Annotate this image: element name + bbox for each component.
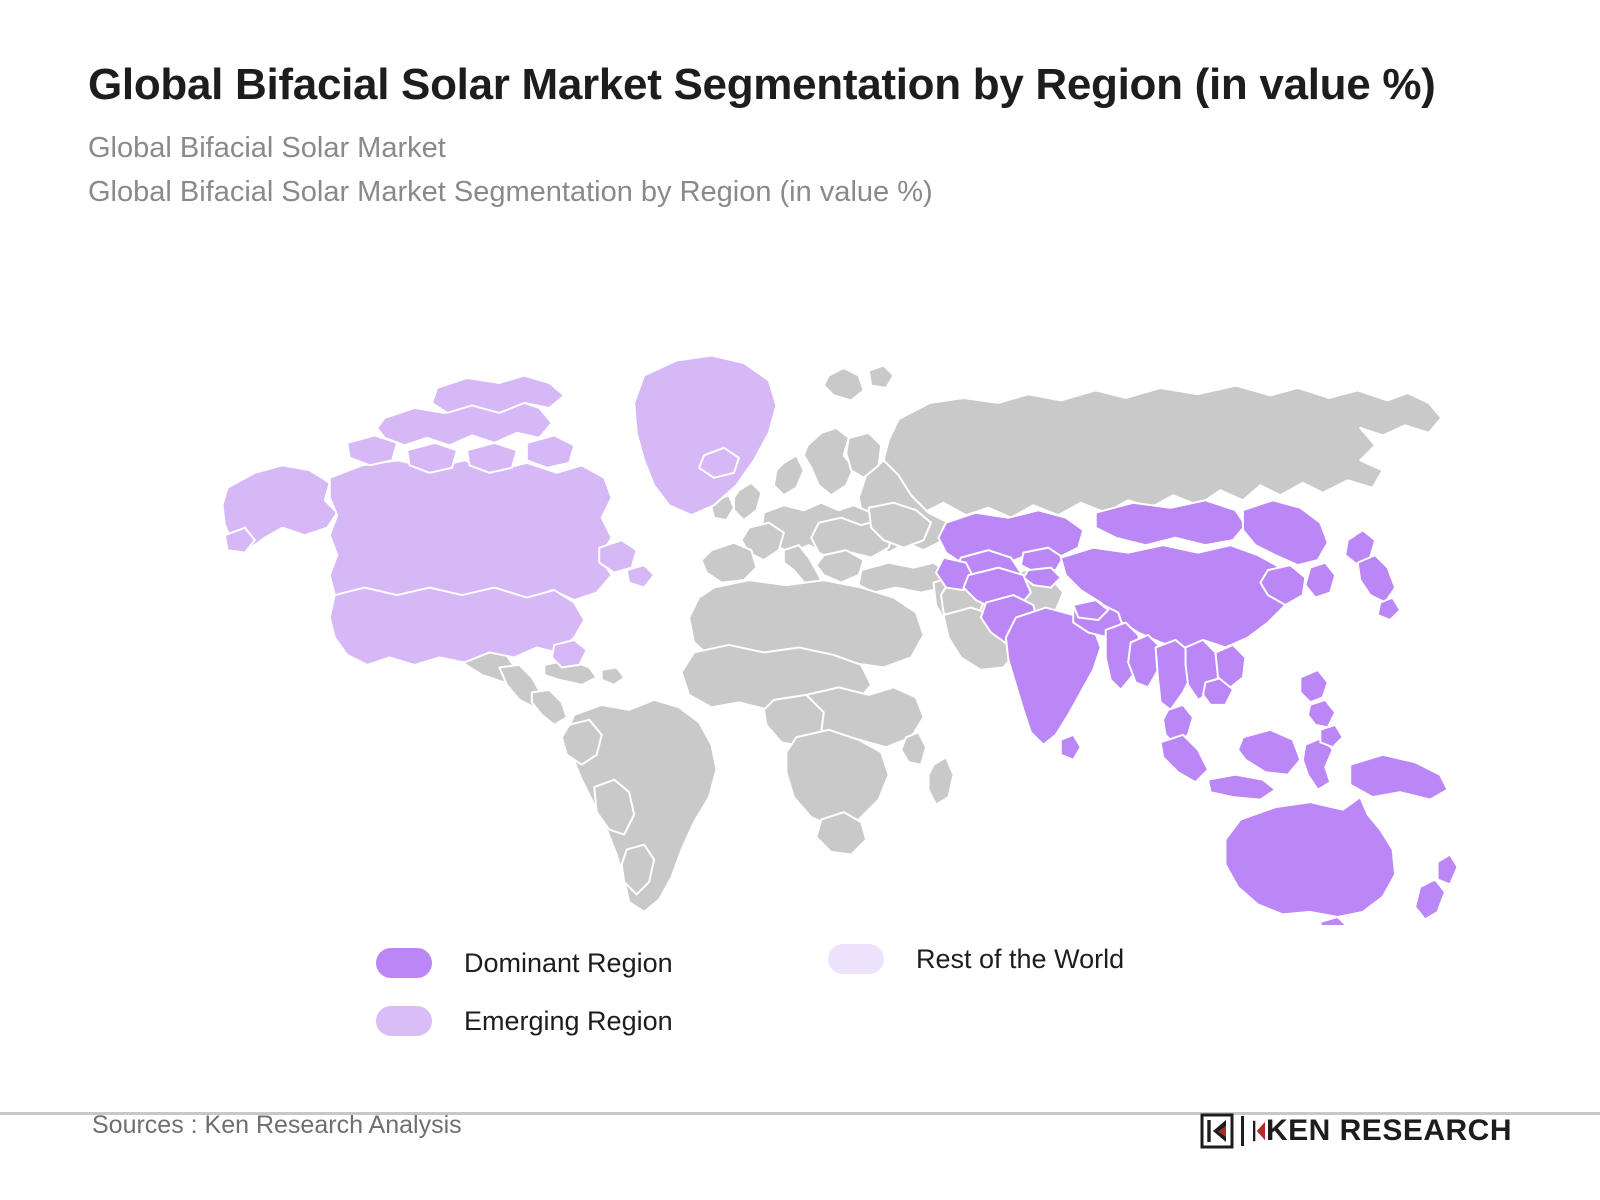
legend-label-rest-of-world: Rest of the World [916, 946, 1124, 973]
legend-label-dominant: Dominant Region [464, 950, 673, 977]
legend-item-emerging-region[interactable]: Emerging Region [376, 1006, 673, 1036]
chart-page: Global Bifacial Solar Market Segmentatio… [0, 0, 1600, 1200]
legend-item-dominant-region[interactable]: Dominant Region [376, 948, 673, 978]
chart-header: Global Bifacial Solar Market Segmentatio… [88, 56, 1488, 213]
chart-subtitle-secondary: Global Bifacial Solar Market Segmentatio… [88, 172, 1488, 213]
legend-label-emerging: Emerging Region [464, 1008, 673, 1035]
chart-legend: Dominant Region Emerging Region Rest of … [376, 944, 1276, 1054]
map-region-dominant [936, 500, 1457, 925]
logo-wordmark: KEN RESEARCH [1253, 1116, 1512, 1146]
source-note: Sources : Ken Research Analysis [92, 1111, 462, 1140]
logo-wordmark-text: KEN RESEARCH [1266, 1114, 1512, 1147]
logo-divider [1241, 1116, 1244, 1146]
legend-swatch-emerging [376, 1006, 432, 1036]
world-map [200, 325, 1460, 925]
world-map-svg [200, 325, 1460, 925]
legend-item-rest-of-the-world[interactable]: Rest of the World [828, 944, 1124, 974]
page-title: Global Bifacial Solar Market Segmentatio… [88, 56, 1458, 114]
legend-swatch-rest-of-world [828, 944, 884, 974]
ken-research-k-icon [1199, 1113, 1235, 1149]
chart-subtitle: Global Bifacial Solar Market [88, 128, 1488, 169]
legend-swatch-dominant [376, 948, 432, 978]
ken-research-logo: KEN RESEARCH [1199, 1110, 1512, 1152]
